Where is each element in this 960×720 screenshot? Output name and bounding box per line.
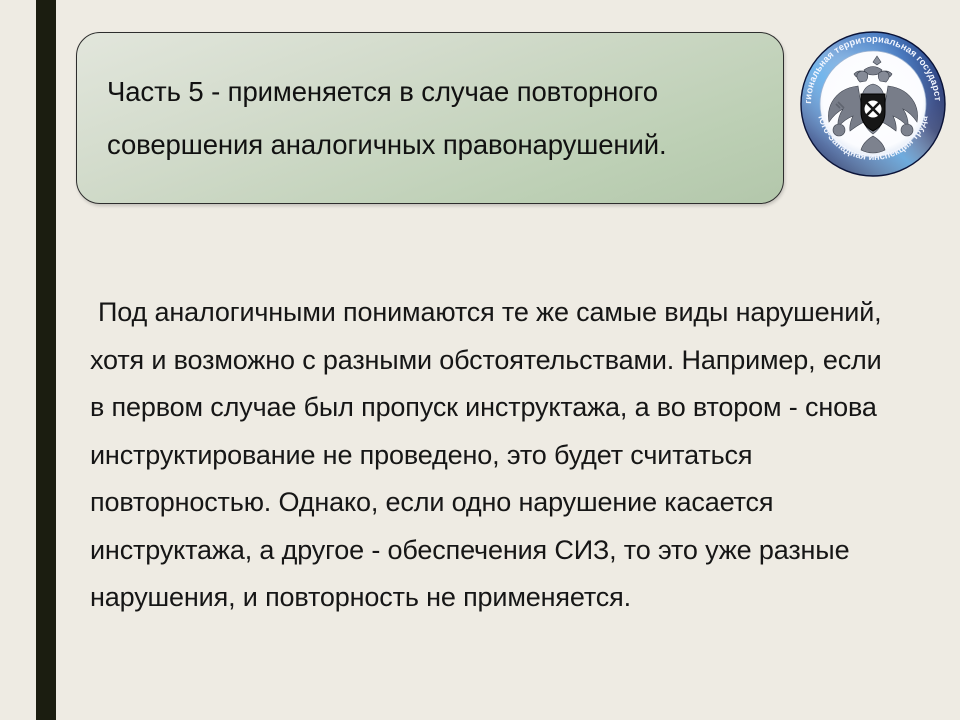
title-box: Часть 5 - применяется в случае повторног… [76,32,784,204]
body-paragraph: Под аналогичными понимаются те же самые … [90,289,890,622]
left-accent-bar [36,0,56,720]
left-margin-strip [0,0,36,720]
page-title: Часть 5 - применяется в случае повторног… [77,65,783,171]
agency-emblem: Межрегиональная территориальная государс… [792,12,954,190]
body-block: Под аналогичными понимаются те же самые … [90,262,890,649]
slide: Часть 5 - применяется в случае повторног… [0,0,960,720]
